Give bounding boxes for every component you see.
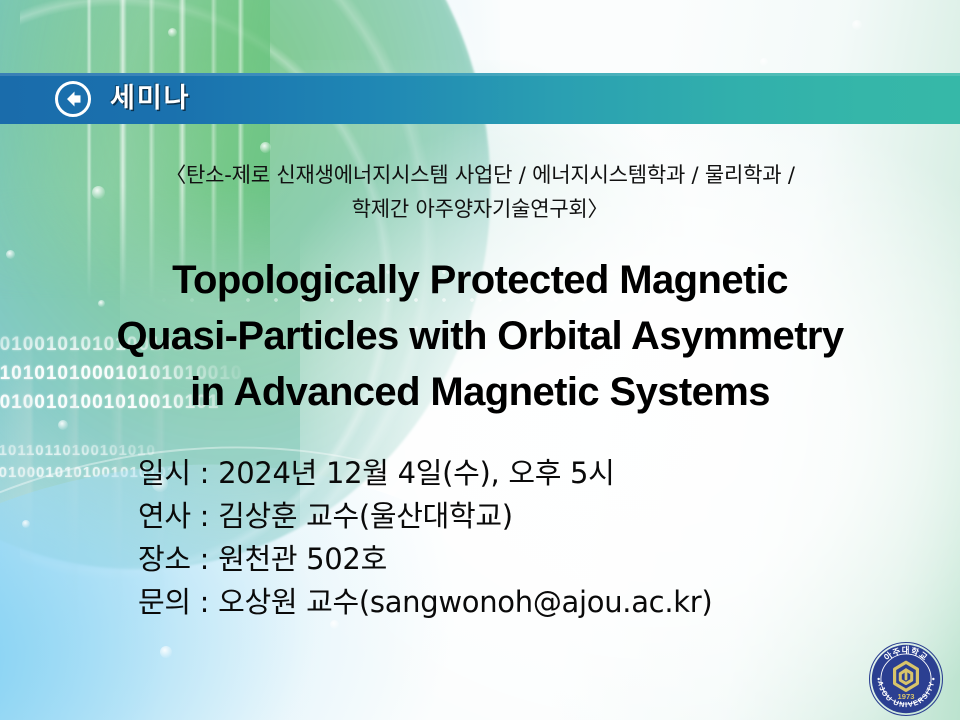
detail-speaker: 연사 : 김상훈 교수(울산대학교) <box>138 495 712 538</box>
bokeh-dot <box>22 520 30 528</box>
seminar-poster: 101001010101001010101 010101010001010101… <box>0 0 960 720</box>
binary-line-4: 1010110110100101010 <box>0 442 156 459</box>
seminar-title-line3: in Advanced Magnetic Systems <box>30 364 930 420</box>
bokeh-dot <box>168 28 177 37</box>
circle-left-arrow-icon[interactable] <box>55 81 91 117</box>
seminar-title-line2: Quasi-Particles with Orbital Asymmetry <box>30 308 930 364</box>
ajou-university-logo: 아주대학교 AJOU UNIVERSITY 1973 <box>868 641 944 717</box>
bokeh-dot <box>6 250 15 259</box>
seminar-banner: 세미나 <box>0 73 960 124</box>
detail-date: 일시 : 2024년 12월 4일(수), 오후 5시 <box>138 452 712 495</box>
detail-contact: 문의 : 오상원 교수(sangwonoh@ajou.ac.kr) <box>138 581 712 624</box>
detail-venue: 장소 : 원천관 502호 <box>138 538 712 581</box>
banner-highlight <box>0 73 960 76</box>
bokeh-dot <box>760 58 768 66</box>
seminar-title: Topologically Protected Magnetic Quasi-P… <box>30 252 930 420</box>
bokeh-dot <box>58 420 68 430</box>
bokeh-dot <box>260 142 271 153</box>
logo-founding-year: 1973 <box>898 692 915 701</box>
organizer-subtitle-line1: 〈탄소-제로 신재생에너지시스템 사업단 / 에너지시스템학과 / 물리학과 / <box>165 163 795 187</box>
organizer-subtitle-line2: 학제간 아주양자기술연구회〉 <box>0 192 960 226</box>
seminar-title-line1: Topologically Protected Magnetic <box>30 252 930 308</box>
organizer-subtitle: 〈탄소-제로 신재생에너지시스템 사업단 / 에너지시스템학과 / 물리학과 /… <box>0 158 960 226</box>
banner-title: 세미나 <box>110 85 191 112</box>
seminar-details: 일시 : 2024년 12월 4일(수), 오후 5시 연사 : 김상훈 교수(… <box>138 452 712 624</box>
bokeh-dot <box>160 646 172 658</box>
bokeh-dot <box>852 20 862 30</box>
